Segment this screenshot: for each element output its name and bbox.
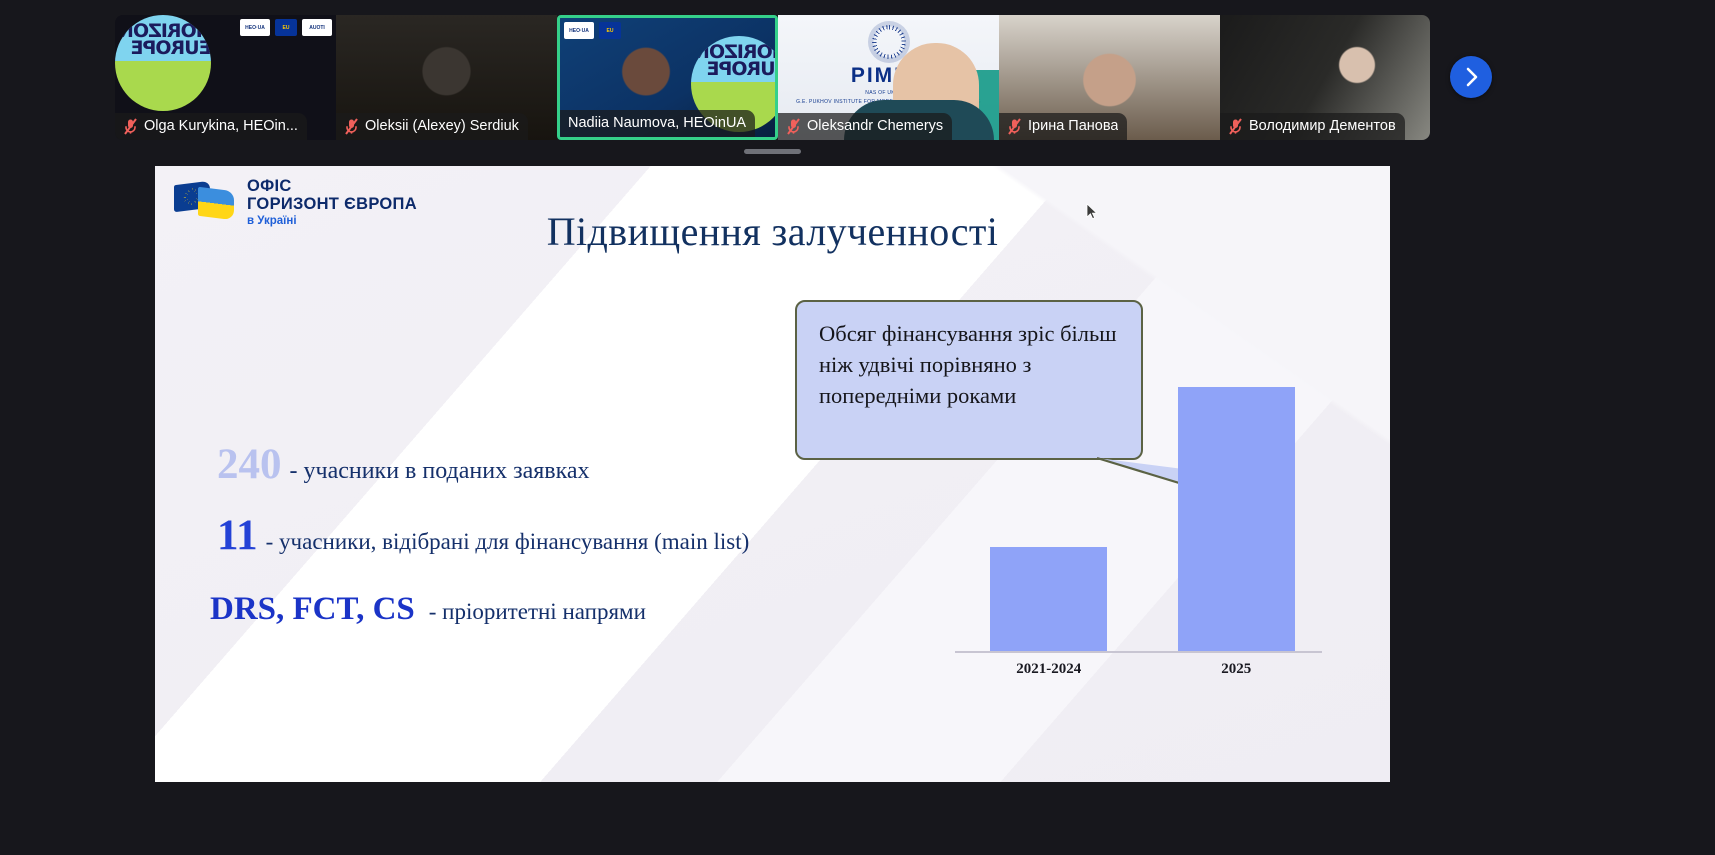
mouse-cursor-icon [1086,203,1098,221]
participant-tile-4[interactable]: Ірина Панова [999,15,1220,140]
participant-tile-1[interactable]: Oleksii (Alexey) Serdiuk [336,15,557,140]
heoua-logo-icon: HEO·UA [564,22,594,39]
participant-tile-0[interactable]: HORIZONEUROPE HEO·UA EU AUOTI Olga Kuryk… [115,15,336,140]
participant-name-chip: Olga Kurykina, HEOin... [115,113,307,140]
funding-bar-chart: 2021-2024 2025 [955,366,1330,686]
shared-screen-slide[interactable]: ОФІС ГОРИЗОНТ ЄВРОПА в Україні Підвищенн… [155,166,1390,782]
horizon-europe-graphic: HORIZONEUROPE [115,15,211,111]
participant-name-chip: Ірина Панова [999,113,1127,140]
zoom-meeting-window: HORIZONEUROPE HEO·UA EU AUOTI Olga Kuryk… [0,0,1715,855]
participant-name-chip: Nadiia Naumova, HEOinUA [560,110,755,137]
muted-microphone-icon [786,118,801,135]
participant-name: Oleksandr Chemerys [807,118,943,134]
eu-logo-icon: EU [599,22,621,39]
bar-2025 [1178,387,1295,652]
muted-microphone-icon [123,118,138,135]
participant-name-chip: Oleksandr Chemerys [778,113,952,140]
chevron-right-icon [1459,65,1483,89]
chart-x-axis [955,651,1322,653]
participant-name: Ірина Панова [1028,118,1118,134]
participant-filmstrip[interactable]: HORIZONEUROPE HEO·UA EU AUOTI Olga Kuryk… [115,15,1430,140]
participant-tile-5[interactable]: Володимир Дементов [1220,15,1430,140]
participant-name: Olga Kurykina, HEOin... [144,118,298,134]
muted-microphone-icon [344,118,359,135]
participant-name-chip: Oleksii (Alexey) Serdiuk [336,113,528,140]
heoua-logo-icon: HEO·UA [240,19,270,36]
filmstrip-drag-handle[interactable] [744,149,801,154]
stat-number: 240 [217,440,282,489]
stat-label: - учасники, відібрані для фінансування (… [266,529,750,555]
stat-number: DRS, FCT, CS [210,591,415,628]
eu-logo-icon: EU [275,19,297,36]
stat-row-participants-in-proposals: 240 - учасники в поданих заявках [217,440,590,489]
stat-number: 11 [217,511,258,560]
slide-title: Підвищення залученності [155,208,1390,255]
participant-name: Володимир Дементов [1249,118,1396,134]
muted-microphone-icon [1007,118,1022,135]
participant-tile-3[interactable]: PIMEE NAS OF UKRAINE G.E. PUKHOV INSTITU… [778,15,999,140]
participant-name: Oleksii (Alexey) Serdiuk [365,118,519,134]
participant-name: Nadiia Naumova, HEOinUA [568,115,746,131]
logo-line-1: ОФІС [247,178,417,196]
chart-plot-area [955,366,1330,652]
mini-logo-group: HEO·UA EU AUOTI [240,19,332,36]
mini-logo-group: HEO·UA EU [564,22,621,39]
filmstrip-next-page-button[interactable] [1450,56,1492,98]
stat-row-priority-areas: DRS, FCT, CS - пріоритетні напрями [210,591,646,628]
bar-group-1 [1176,387,1296,652]
bar-2021-2024 [990,547,1107,652]
chart-x-tick-labels: 2021-2024 2025 [955,661,1330,678]
stat-label: - учасники в поданих заявках [290,458,590,485]
x-tick-label-1: 2025 [1176,661,1296,678]
auoti-logo-icon: AUOTI [302,19,332,36]
stat-row-participants-selected: 11 - учасники, відібрані для фінансуванн… [217,511,749,560]
participant-name-chip: Володимир Дементов [1220,113,1405,140]
participant-tile-2-active-speaker[interactable]: HORIZONEUROPE HEO·UA EU Nadiia Naumova, … [557,15,778,140]
x-tick-label-0: 2021-2024 [989,661,1109,678]
muted-microphone-icon [1228,118,1243,135]
bar-group-0 [989,547,1109,652]
stat-label: - пріоритетні напрями [429,599,646,625]
